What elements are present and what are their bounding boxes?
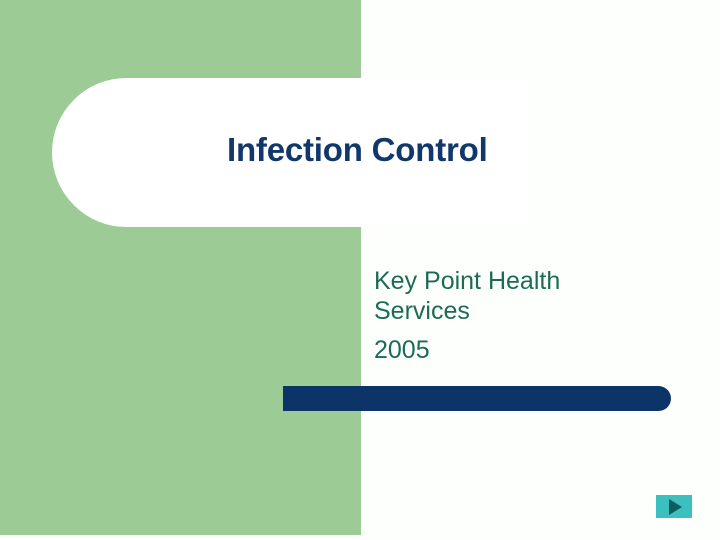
subtitle-organization: Key Point Health Services: [374, 266, 599, 326]
play-triangle-icon: [669, 499, 682, 515]
presentation-slide: Infection Control Key Point Health Servi…: [0, 0, 720, 540]
subtitle-block: Key Point Health Services 2005: [374, 266, 674, 365]
accent-bar: [283, 386, 671, 411]
title-plate: Infection Control: [52, 78, 532, 227]
subtitle-year: 2005: [374, 335, 674, 365]
play-button[interactable]: [656, 495, 692, 518]
slide-title: Infection Control: [227, 130, 587, 170]
